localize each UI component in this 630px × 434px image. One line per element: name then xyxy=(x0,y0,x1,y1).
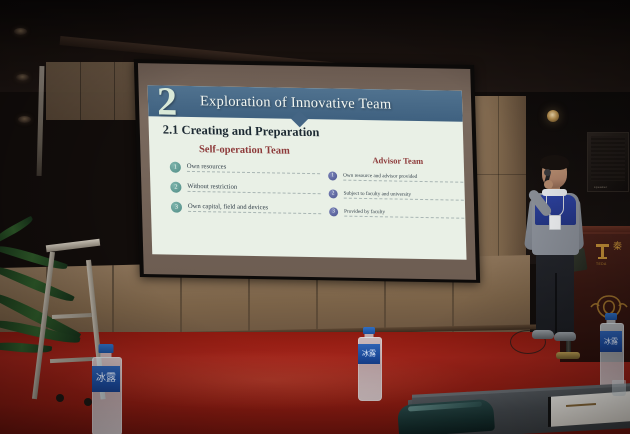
easel-crossbar xyxy=(50,357,94,363)
column-title: Advisor Team xyxy=(328,154,467,166)
list-item: 3 Own capital, field and devices xyxy=(171,202,321,216)
bullet-number: 3 xyxy=(329,207,338,216)
slide-subheading: 2.1 Creating and Preparation xyxy=(163,123,320,141)
water-bottle: 冰露 xyxy=(358,327,380,402)
slide-content: 2 Exploration of Innovative Team 2.1 Cre… xyxy=(148,85,467,259)
bottle-cap xyxy=(363,327,375,334)
easel-wheel xyxy=(56,394,64,402)
bullet-text: Own capital, field and devices xyxy=(188,203,321,214)
water-bottle: 冰露 xyxy=(92,344,120,434)
slide-section-number: 2 xyxy=(156,85,177,121)
bullet-text: Provided by faculty xyxy=(344,208,466,218)
bullet-text: Own resource and advisor provided xyxy=(343,172,466,182)
downlight-icon xyxy=(14,28,27,35)
bullet-text: Own resources xyxy=(187,163,320,174)
presenter xyxy=(524,158,586,360)
bottle-cap xyxy=(99,344,114,353)
bottle-label: 冰露 xyxy=(92,366,120,392)
notepad xyxy=(548,391,630,427)
presenter-shoe xyxy=(554,332,576,341)
slide-column-self-operation: Self-operation Team 1 Own resources 2 Wi… xyxy=(169,144,321,225)
projection-screen: 2 Exploration of Innovative Team 2.1 Cre… xyxy=(134,59,480,283)
easel-crossbar xyxy=(52,313,92,319)
slide-column-advisor: Advisor Team 1 Own resource and advisor … xyxy=(328,154,467,227)
podium-logo-text: 秦 xyxy=(613,243,622,252)
wall-sconce-icon xyxy=(547,110,559,122)
list-item: 1 Own resources xyxy=(170,162,320,176)
downlight-icon xyxy=(16,74,29,81)
bottle-label: 冰露 xyxy=(358,344,380,364)
speaker-grille xyxy=(591,136,625,181)
speaker-brand-label: speaker xyxy=(594,185,607,189)
wall-speaker: speaker xyxy=(587,132,629,192)
list-item: 3 Provided by faculty xyxy=(329,207,467,218)
bullet-number: 3 xyxy=(171,202,182,213)
bottle-cap xyxy=(605,313,617,320)
list-item: 2 Without restriction xyxy=(170,182,320,196)
microphone-head-icon xyxy=(544,169,551,176)
column-title: Self-operation Team xyxy=(169,144,319,158)
downlight-icon xyxy=(18,116,31,123)
easel-wheel xyxy=(84,398,92,406)
bottle-brand-text: 冰露 xyxy=(96,374,116,384)
upper-wall-panel xyxy=(46,62,148,120)
bottle-brand-text: 冰露 xyxy=(604,338,618,345)
bottle-brand-text: 冰露 xyxy=(362,351,376,358)
bullet-number: 1 xyxy=(328,171,337,180)
podium-logo-subtext: TEDA xyxy=(596,262,607,266)
presenter-collar xyxy=(542,189,567,196)
bullet-number: 2 xyxy=(170,182,181,193)
drinking-glass xyxy=(612,380,626,396)
list-item: 1 Own resource and advisor provided xyxy=(328,171,467,182)
list-item: 2 Subject to faculty and university xyxy=(329,189,467,200)
bullet-text: Without restriction xyxy=(187,183,320,194)
bullet-number: 1 xyxy=(170,162,181,173)
presenter-shoe xyxy=(532,330,554,339)
podium-logo-icon xyxy=(596,244,609,260)
bullet-number: 2 xyxy=(329,189,338,198)
presentation-photo: speaker 2 Exploration of Innovative Team… xyxy=(0,0,630,434)
name-badge xyxy=(549,215,561,230)
presenter-hair xyxy=(540,155,569,170)
bullet-text: Subject to faculty and university xyxy=(344,190,467,200)
presenter-legs xyxy=(536,253,574,335)
presenter-hand xyxy=(544,180,553,189)
screen-surface: 2 Exploration of Innovative Team 2.1 Cre… xyxy=(138,63,476,280)
bottle-label: 冰露 xyxy=(600,331,622,352)
